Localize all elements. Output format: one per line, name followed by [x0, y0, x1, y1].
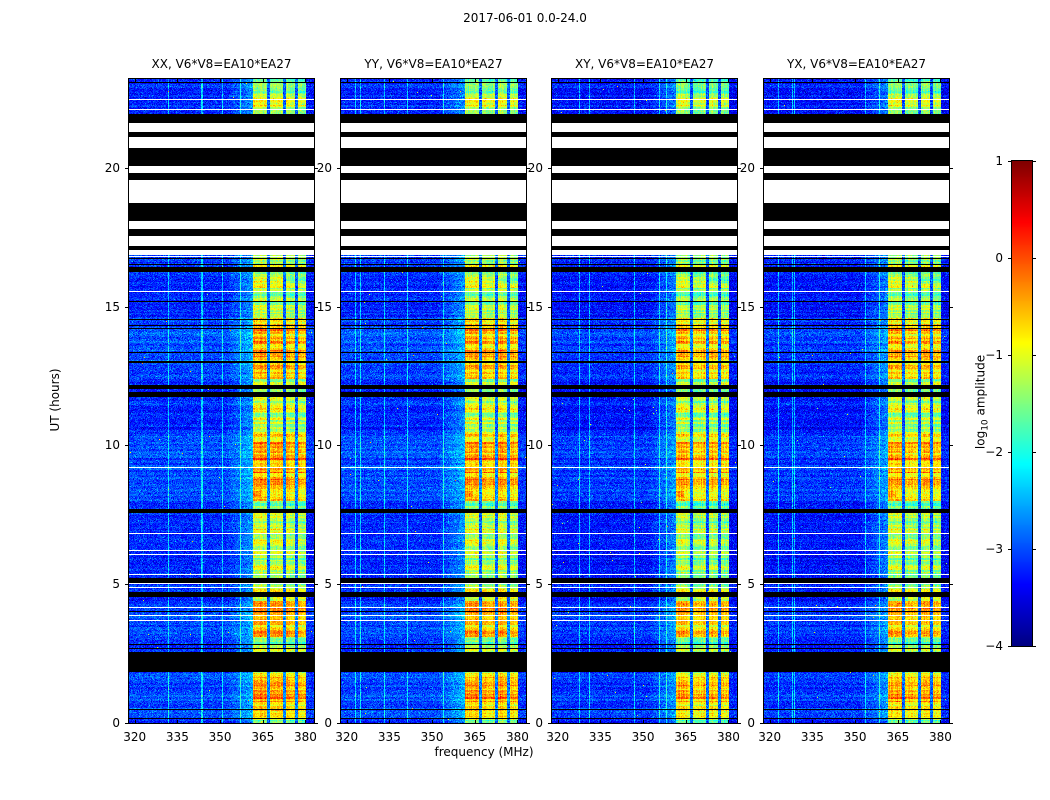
y-tick-label: 0 — [324, 716, 332, 730]
y-tick-right — [949, 307, 953, 308]
x-tick-label: 335 — [801, 730, 824, 744]
x-tick-label: 335 — [589, 730, 612, 744]
y-tick — [760, 307, 764, 308]
x-tick — [558, 720, 559, 724]
x-tick-top — [643, 79, 644, 83]
x-tick — [220, 720, 221, 724]
colorbar-label: log10 amplitude — [973, 355, 990, 449]
x-tick-label: 365 — [463, 730, 486, 744]
panel-title-yx: YX, V6*V8=EA10*EA27 — [734, 57, 979, 71]
x-tick-top — [475, 79, 476, 83]
panel-title-xy: XY, V6*V8=EA10*EA27 — [522, 57, 767, 71]
panel-xy[interactable]: XY, V6*V8=EA10*EA27 32033535036538005101… — [551, 78, 738, 724]
figure-canvas: 2017-06-01 0.0-24.0 XX, V6*V8=EA10*EA27 … — [0, 0, 1050, 800]
panel-xx[interactable]: XX, V6*V8=EA10*EA27 32033535036538005101… — [128, 78, 315, 724]
panel-yy[interactable]: YY, V6*V8=EA10*EA27 32033535036538005101… — [340, 78, 527, 724]
y-tick-label: 10 — [528, 438, 543, 452]
x-tick-top — [347, 79, 348, 83]
y-tick — [125, 307, 129, 308]
x-tick-label: 365 — [886, 730, 909, 744]
y-tick-label: 20 — [317, 161, 332, 175]
y-tick — [548, 445, 552, 446]
x-tick-top — [898, 79, 899, 83]
x-tick-top — [305, 79, 306, 83]
y-tick — [760, 584, 764, 585]
y-tick-label: 10 — [317, 438, 332, 452]
x-tick-label: 365 — [674, 730, 697, 744]
y-tick-label: 15 — [528, 300, 543, 314]
y-tick-label: 0 — [112, 716, 120, 730]
y-tick-right — [737, 584, 741, 585]
colorbar-tick-right — [1032, 355, 1036, 356]
x-tick-label: 335 — [378, 730, 401, 744]
x-tick — [432, 720, 433, 724]
x-tick-top — [855, 79, 856, 83]
x-tick-top — [728, 79, 729, 83]
x-tick-top — [600, 79, 601, 83]
x-tick-label: 350 — [844, 730, 867, 744]
x-tick-label: 380 — [506, 730, 529, 744]
colorbar-tick-label: 1 — [995, 154, 1003, 168]
y-tick-label: 20 — [105, 161, 120, 175]
x-tick-top — [940, 79, 941, 83]
colorbar-tick-label: −4 — [985, 639, 1003, 653]
x-tick — [855, 720, 856, 724]
x-tick-top — [686, 79, 687, 83]
x-tick — [305, 720, 306, 724]
y-axis-label: UT (hours) — [48, 368, 62, 431]
colorbar-tick — [1008, 549, 1012, 550]
x-tick-label: 320 — [123, 730, 146, 744]
y-tick — [125, 445, 129, 446]
x-tick — [135, 720, 136, 724]
colorbar-tick-label: 0 — [995, 251, 1003, 265]
x-tick-label: 350 — [421, 730, 444, 744]
panel-title-xx: XX, V6*V8=EA10*EA27 — [99, 57, 344, 71]
y-tick-label: 5 — [747, 577, 755, 591]
y-tick-label: 5 — [112, 577, 120, 591]
colorbar-tick-right — [1032, 258, 1036, 259]
y-tick — [548, 307, 552, 308]
x-tick-top — [432, 79, 433, 83]
y-tick-right — [314, 723, 318, 724]
figure-title: 2017-06-01 0.0-24.0 — [0, 11, 1050, 25]
x-tick-label: 350 — [209, 730, 232, 744]
x-tick — [686, 720, 687, 724]
y-tick-label: 0 — [747, 716, 755, 730]
x-tick-top — [770, 79, 771, 83]
x-tick — [600, 720, 601, 724]
heatmap-yy — [341, 79, 526, 723]
x-tick — [389, 720, 390, 724]
x-tick — [728, 720, 729, 724]
x-tick — [347, 720, 348, 724]
y-tick-label: 15 — [105, 300, 120, 314]
x-tick-label: 320 — [758, 730, 781, 744]
y-tick — [337, 723, 341, 724]
x-tick-top — [389, 79, 390, 83]
y-tick-label: 5 — [535, 577, 543, 591]
x-tick-label: 380 — [294, 730, 317, 744]
colorbar-tick-right — [1032, 549, 1036, 550]
x-tick-label: 365 — [251, 730, 274, 744]
y-tick — [125, 723, 129, 724]
y-tick-right — [949, 445, 953, 446]
y-tick-label: 15 — [740, 300, 755, 314]
x-tick-top — [812, 79, 813, 83]
y-tick-label: 15 — [317, 300, 332, 314]
x-tick-label: 380 — [929, 730, 952, 744]
x-tick-label: 350 — [632, 730, 655, 744]
y-tick-right — [314, 584, 318, 585]
x-tick-label: 320 — [335, 730, 358, 744]
y-tick — [760, 445, 764, 446]
y-tick — [337, 584, 341, 585]
y-tick-right — [949, 168, 953, 169]
y-tick — [548, 723, 552, 724]
y-tick — [337, 168, 341, 169]
colorbar-tick — [1008, 452, 1012, 453]
y-tick — [125, 584, 129, 585]
colorbar-tick-label: −3 — [985, 542, 1003, 556]
y-tick — [760, 168, 764, 169]
x-tick-top — [220, 79, 221, 83]
x-tick-top — [177, 79, 178, 83]
x-tick — [770, 720, 771, 724]
x-tick — [177, 720, 178, 724]
x-tick — [812, 720, 813, 724]
x-tick — [475, 720, 476, 724]
heatmap-yx — [764, 79, 949, 723]
y-tick — [548, 168, 552, 169]
y-tick-right — [526, 723, 530, 724]
colorbar-tick — [1008, 258, 1012, 259]
colorbar-tick-right — [1032, 646, 1036, 647]
panel-yx[interactable]: YX, V6*V8=EA10*EA27 32033535036538005101… — [763, 78, 950, 724]
x-tick-top — [558, 79, 559, 83]
y-tick-right — [737, 723, 741, 724]
y-tick-label: 10 — [740, 438, 755, 452]
y-tick — [125, 168, 129, 169]
colorbar-tick-right — [1032, 452, 1036, 453]
y-tick — [337, 445, 341, 446]
colorbar-tick — [1008, 161, 1012, 162]
colorbar-tick-right — [1032, 161, 1036, 162]
y-tick-right — [526, 584, 530, 585]
y-tick-right — [949, 584, 953, 585]
y-tick-right — [949, 723, 953, 724]
panel-title-yy: YY, V6*V8=EA10*EA27 — [311, 57, 556, 71]
x-axis-label: frequency (MHz) — [434, 745, 533, 759]
colorbar[interactable]: −4−3−2−101 — [1011, 160, 1033, 647]
y-tick — [337, 307, 341, 308]
x-tick — [643, 720, 644, 724]
x-tick-label: 380 — [717, 730, 740, 744]
y-tick-label: 0 — [535, 716, 543, 730]
x-tick-label: 320 — [546, 730, 569, 744]
heatmap-xx — [129, 79, 314, 723]
x-tick-top — [135, 79, 136, 83]
y-tick — [760, 723, 764, 724]
colorbar-tick — [1008, 646, 1012, 647]
y-tick — [548, 584, 552, 585]
x-tick — [898, 720, 899, 724]
x-tick — [940, 720, 941, 724]
y-tick-label: 5 — [324, 577, 332, 591]
y-tick-label: 20 — [528, 161, 543, 175]
x-tick-top — [517, 79, 518, 83]
heatmap-xy — [552, 79, 737, 723]
y-tick-label: 10 — [105, 438, 120, 452]
x-tick — [517, 720, 518, 724]
x-tick-label: 335 — [166, 730, 189, 744]
colorbar-tick — [1008, 355, 1012, 356]
y-tick-label: 20 — [740, 161, 755, 175]
x-tick-top — [263, 79, 264, 83]
x-tick — [263, 720, 264, 724]
